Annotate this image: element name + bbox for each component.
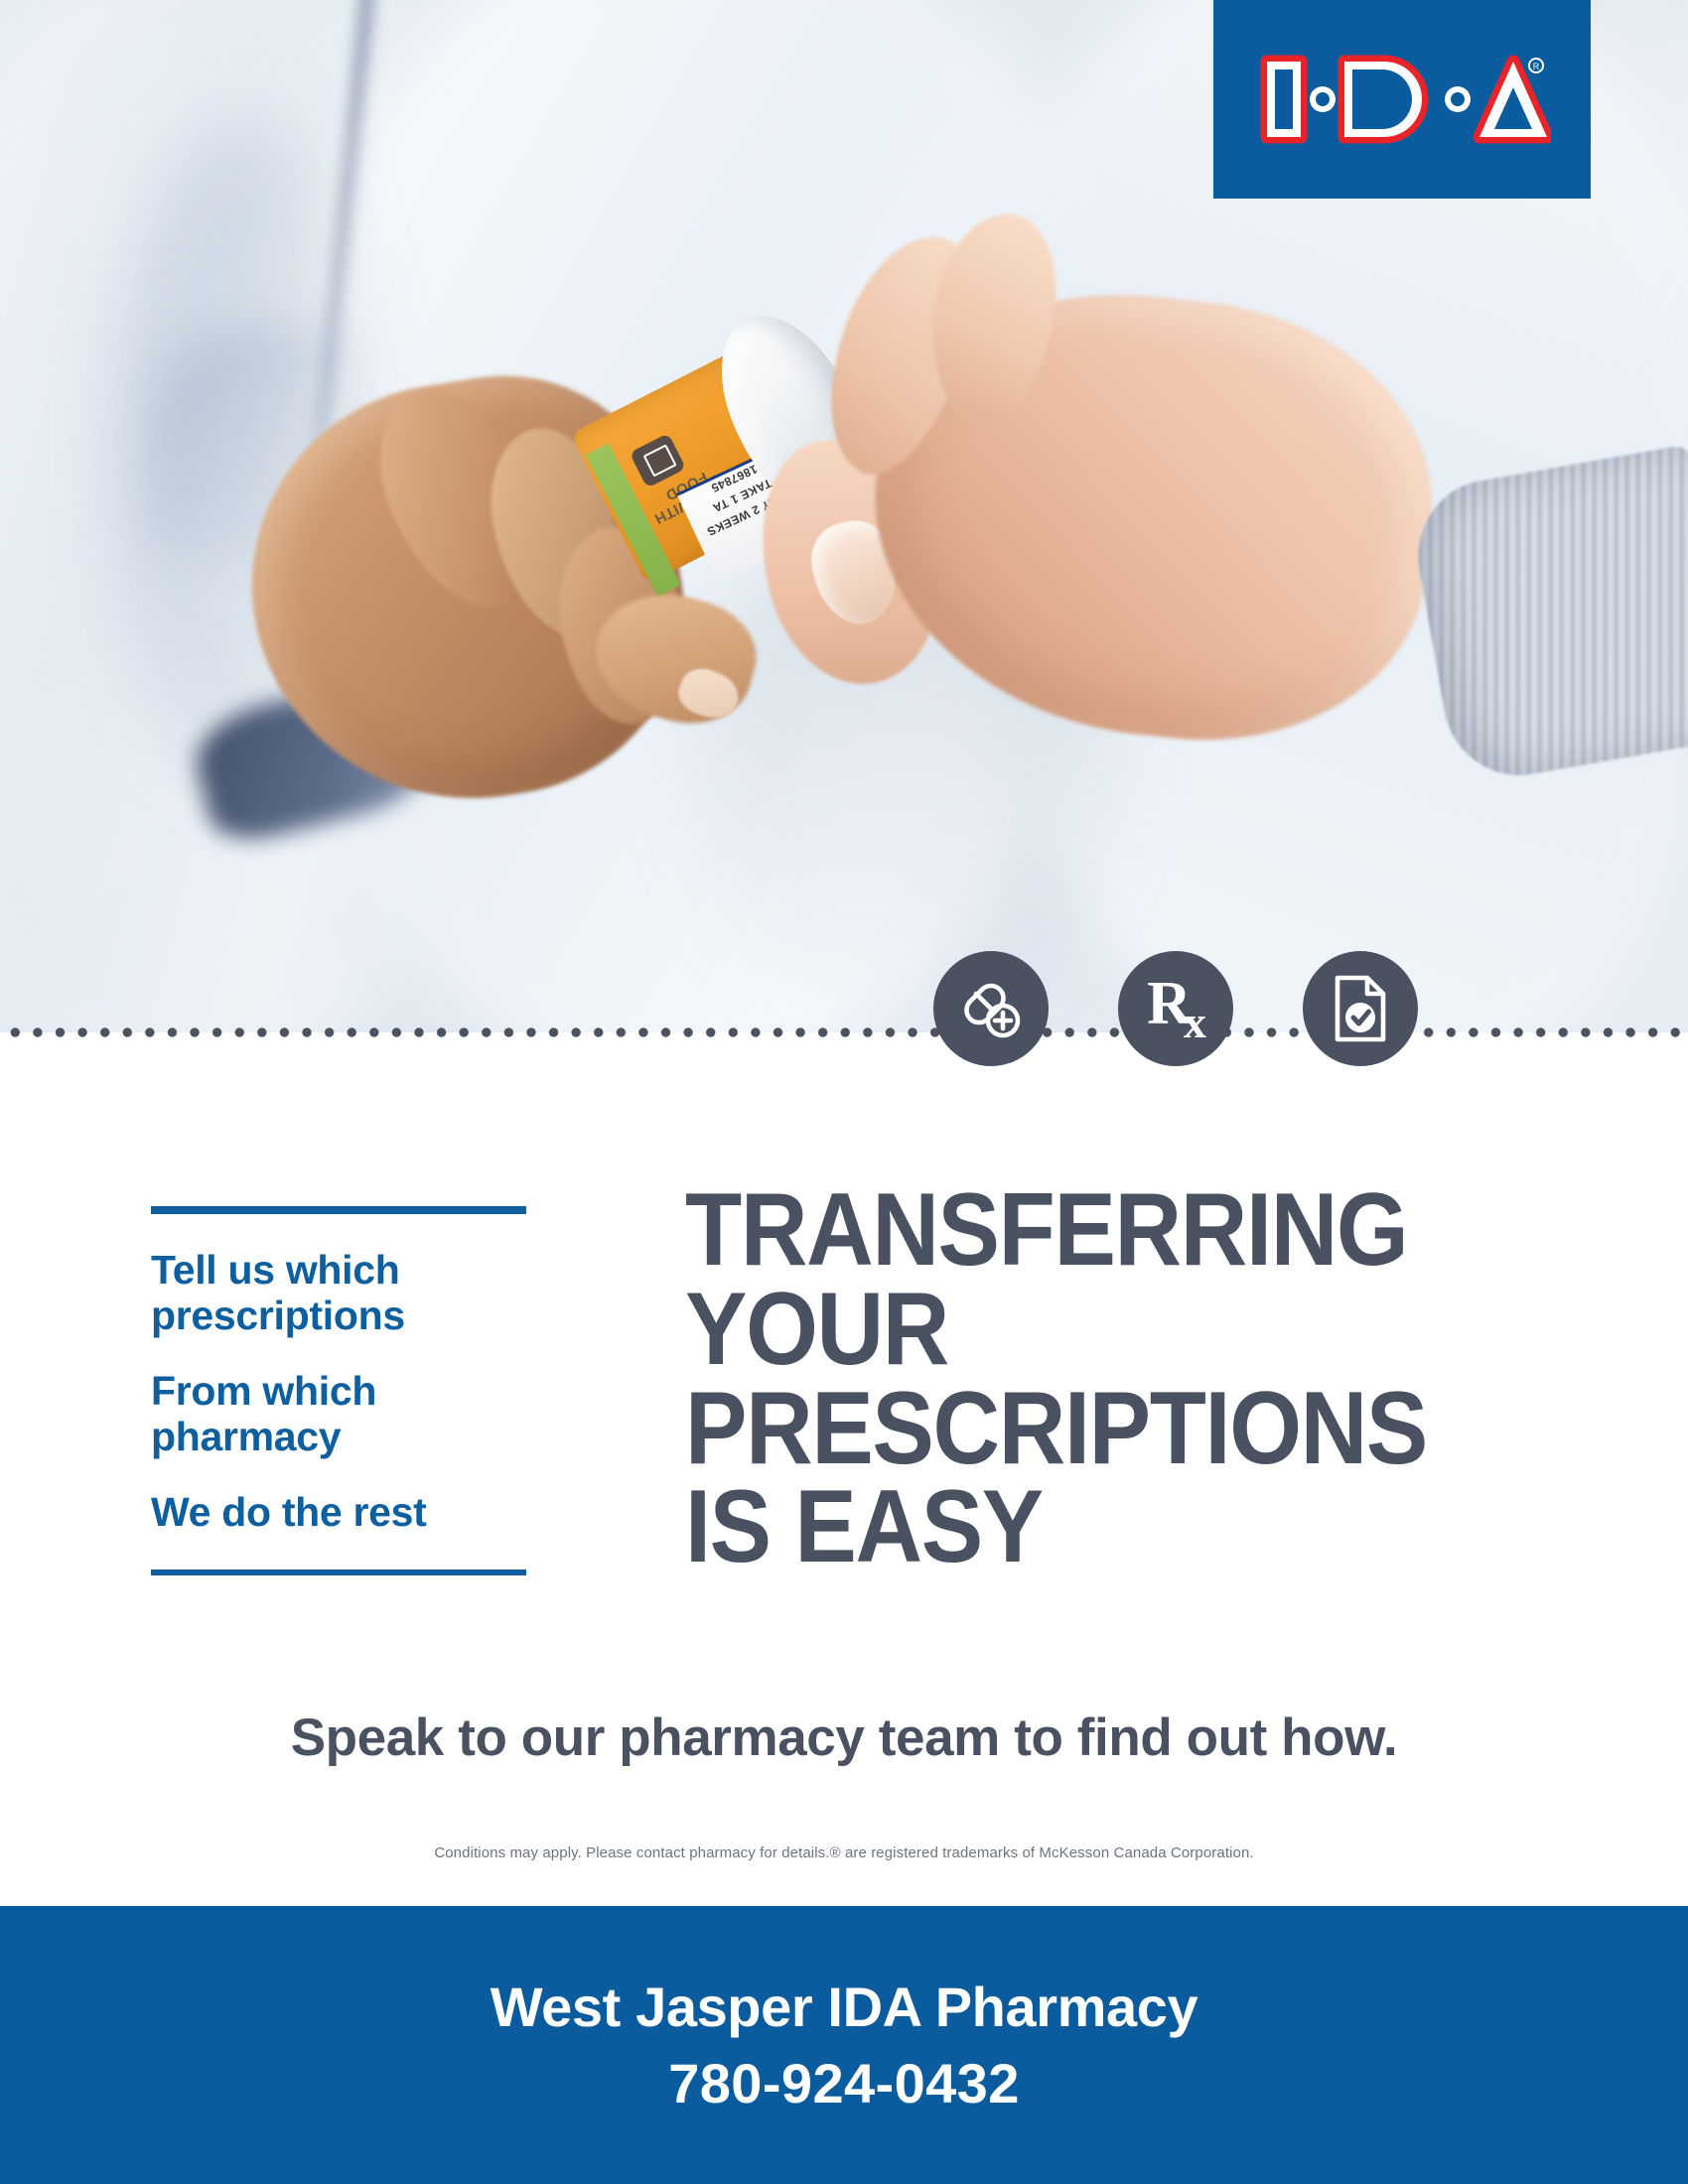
ida-logo: R bbox=[1213, 0, 1591, 199]
step-item-3: We do the rest bbox=[151, 1490, 526, 1536]
pills-plus-icon bbox=[933, 951, 1049, 1066]
rx-glyph-letter: Rx bbox=[1147, 973, 1204, 1045]
steps-list: Tell us which prescriptions From which p… bbox=[151, 1206, 526, 1575]
steps-rule-bottom bbox=[151, 1570, 526, 1575]
rx-icon: Rx bbox=[1118, 951, 1233, 1066]
content-area: Tell us which prescriptions From which p… bbox=[0, 1032, 1688, 1906]
steps-rule-top bbox=[151, 1206, 526, 1214]
pharmacy-poster: TAKE WITH FOOD 1867845 TAKE 1 TA ONLY 2 … bbox=[0, 0, 1688, 2184]
call-to-action: Speak to our pharmacy team to find out h… bbox=[0, 1707, 1688, 1768]
disclaimer-text: Conditions may apply. Please contact pha… bbox=[0, 1844, 1688, 1861]
footer-bar: West Jasper IDA Pharmacy 780-924-0432 bbox=[0, 1906, 1688, 2184]
step-item-2: From which pharmacy bbox=[151, 1369, 526, 1460]
pharmacy-phone[interactable]: 780-924-0432 bbox=[668, 2051, 1020, 2116]
document-check-icon bbox=[1303, 951, 1418, 1066]
svg-text:R: R bbox=[1533, 62, 1540, 71]
dotted-divider bbox=[0, 1023, 1688, 1042]
icon-row: Rx bbox=[933, 951, 1418, 1066]
page-title: TRANSFERRING YOUR PRESCRIPTIONS IS EASY bbox=[685, 1181, 1436, 1577]
step-item-1: Tell us which prescriptions bbox=[151, 1248, 526, 1339]
pharmacy-name: West Jasper IDA Pharmacy bbox=[491, 1975, 1198, 2039]
